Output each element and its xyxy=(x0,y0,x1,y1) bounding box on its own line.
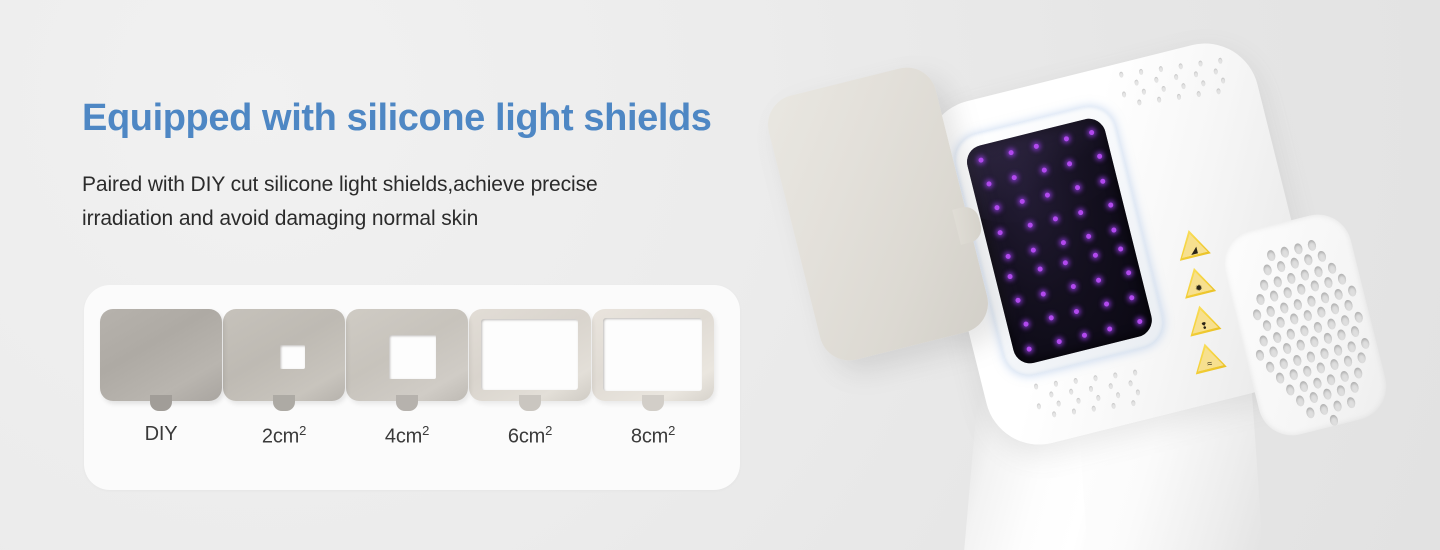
vent-hole xyxy=(1036,403,1041,409)
vent-hole xyxy=(1346,340,1356,353)
led-dot xyxy=(1070,284,1076,290)
vent-hole xyxy=(1329,414,1339,427)
vent-hole xyxy=(1177,94,1182,100)
led-dot xyxy=(1111,227,1117,233)
vent-hole xyxy=(1356,351,1366,364)
vent-hole xyxy=(1252,308,1262,321)
vent-hole xyxy=(1299,324,1309,337)
shield-tab xyxy=(273,395,295,411)
vent-hole xyxy=(1072,408,1077,414)
vent-hole xyxy=(1289,313,1299,326)
vent-hole xyxy=(1266,249,1276,262)
vent-hole xyxy=(1299,380,1309,393)
vent-hole xyxy=(1285,327,1295,340)
shield-label-2cm: 2cm2 xyxy=(223,423,345,449)
vent-hole xyxy=(1302,365,1312,378)
shield-label-4cm: 4cm2 xyxy=(346,423,468,449)
ipl-device-image: ◢ ✹ ❢ ≈ xyxy=(760,20,1440,550)
vent-hole xyxy=(1154,77,1159,83)
vent-hole xyxy=(1161,86,1166,92)
vent-hole xyxy=(1329,358,1339,371)
vent-hole xyxy=(1139,69,1144,75)
vent-hole xyxy=(1221,77,1226,83)
vent-hole xyxy=(1306,294,1316,307)
promo-banner: Equipped with silicone light shields Pai… xyxy=(0,0,1440,550)
led-dot xyxy=(1081,332,1087,338)
vent-hole xyxy=(1293,298,1303,311)
silicone-shield-2cm[interactable] xyxy=(223,309,345,401)
led-dot xyxy=(1027,222,1033,228)
vent-hole xyxy=(1279,245,1289,258)
vent-hole xyxy=(1136,389,1141,395)
vent-hole xyxy=(1122,91,1127,97)
vent-hole xyxy=(1119,71,1124,77)
vent-hole xyxy=(1295,395,1305,408)
vent-hole xyxy=(1255,349,1265,362)
shield-aperture xyxy=(389,335,436,379)
vent-hole xyxy=(1128,380,1133,386)
led-dot xyxy=(1086,233,1092,239)
vent-hole xyxy=(1218,58,1223,64)
vent-hole xyxy=(1313,321,1323,334)
vent-hole xyxy=(1141,88,1146,94)
led-dot xyxy=(997,230,1003,236)
vent-hole xyxy=(1196,91,1201,97)
shield-tab xyxy=(150,395,172,411)
warning-read-manual-icon: ❢ xyxy=(1182,300,1222,338)
led-dot xyxy=(1129,295,1135,301)
vent-hole xyxy=(1333,343,1343,356)
vent-hole xyxy=(1134,79,1139,85)
silicone-shield-6cm[interactable] xyxy=(469,309,591,401)
vent-hole xyxy=(1300,268,1310,281)
led-dot xyxy=(1030,247,1036,253)
vent-hole xyxy=(1272,331,1282,344)
vent-hole xyxy=(1194,71,1199,77)
vent-hole xyxy=(1275,372,1285,385)
vent-hole xyxy=(1034,383,1039,389)
vent-hole xyxy=(1255,293,1265,306)
shield-collection: DIY 2cm2 4cm2 6cm2 8cm2 xyxy=(84,285,740,490)
vent-hole xyxy=(1353,310,1363,323)
vent-hole xyxy=(1343,355,1353,368)
vent-hole xyxy=(1069,388,1074,394)
vent-hole xyxy=(1282,342,1292,355)
vent-hole xyxy=(1303,309,1313,322)
shield-tab xyxy=(642,395,664,411)
vent-hole xyxy=(1336,384,1346,397)
vent-hole xyxy=(1216,88,1221,94)
vent-hole xyxy=(1350,325,1360,338)
shield-label-6cm: 6cm2 xyxy=(469,423,591,449)
vent-hole xyxy=(1316,306,1326,319)
shield-label-text: 8cm xyxy=(631,426,668,448)
vent-hole xyxy=(1137,99,1142,105)
led-dot xyxy=(1015,297,1021,303)
vent-hole xyxy=(1108,383,1113,389)
page-title: Equipped with silicone light shields xyxy=(82,97,712,140)
led-dot xyxy=(1062,260,1068,266)
led-dot xyxy=(1108,202,1114,208)
vent-hole xyxy=(1054,381,1059,387)
vent-hole xyxy=(1310,280,1320,293)
shield-tab xyxy=(396,395,418,411)
vent-hole xyxy=(1337,273,1347,286)
silicone-shield-diy[interactable] xyxy=(100,309,222,401)
subheading-line-2: irradiation and avoid damaging normal sk… xyxy=(82,202,762,236)
vent-hole xyxy=(1279,301,1289,314)
vent-hole xyxy=(1346,396,1356,409)
shield-label-sup: 2 xyxy=(668,423,675,438)
vent-hole xyxy=(1111,403,1116,409)
vent-hole xyxy=(1089,386,1094,392)
vent-hole xyxy=(1322,388,1332,401)
vent-hole xyxy=(1113,372,1118,378)
vent-hole xyxy=(1312,376,1322,389)
vent-hole xyxy=(1293,242,1303,255)
led-dot xyxy=(1056,339,1062,345)
vent-hole xyxy=(1201,80,1206,86)
vent-hole xyxy=(1353,366,1363,379)
vent-hole xyxy=(1290,257,1300,270)
led-dot xyxy=(1052,216,1058,222)
vent-hole xyxy=(1275,316,1285,329)
led-dot xyxy=(1005,253,1011,259)
shield-aperture xyxy=(280,345,305,369)
vent-hole xyxy=(1296,339,1306,352)
vent-hole xyxy=(1333,288,1343,301)
led-dot xyxy=(1026,346,1032,352)
vent-hole xyxy=(1262,264,1272,277)
vent-hole xyxy=(1347,284,1357,297)
vent-hole xyxy=(1319,403,1329,416)
vent-hole xyxy=(1360,337,1370,350)
vent-hole xyxy=(1174,74,1179,80)
vent-hole xyxy=(1157,96,1162,102)
vent-hole xyxy=(1292,354,1302,367)
treatment-window-bezel xyxy=(950,101,1169,381)
vent-hole xyxy=(1309,391,1319,404)
vent-hole xyxy=(1056,400,1061,406)
vent-hole xyxy=(1323,276,1333,289)
led-dot xyxy=(1048,315,1054,321)
vent-hole xyxy=(1327,261,1337,274)
vent-dots-bottom-icon xyxy=(1034,369,1149,426)
vent-hole xyxy=(1343,299,1353,312)
vent-hole xyxy=(1286,272,1296,285)
shield-label-sup: 2 xyxy=(545,423,552,438)
led-dot xyxy=(1104,301,1110,307)
vent-hole xyxy=(1159,66,1164,72)
vent-hole xyxy=(1288,368,1298,381)
led-dot xyxy=(1040,291,1046,297)
vent-hole xyxy=(1133,369,1138,375)
led-dot xyxy=(1078,210,1084,216)
vent-hole xyxy=(1282,286,1292,299)
vent-hole xyxy=(1330,302,1340,315)
vent-hole xyxy=(1262,319,1272,332)
vent-hole xyxy=(1306,350,1316,363)
vent-hole xyxy=(1305,406,1315,419)
silicone-shield-4cm[interactable] xyxy=(346,309,468,401)
subheading-line-1: Paired with DIY cut silicone light shiel… xyxy=(82,168,762,202)
vent-hole xyxy=(1316,362,1326,375)
warning-hot-surface-icon: ≈ xyxy=(1188,338,1228,376)
led-dot xyxy=(1037,266,1043,272)
glass-reflection xyxy=(963,115,1135,235)
vent-hole xyxy=(1265,305,1275,318)
vent-hole xyxy=(1116,392,1121,398)
shield-tab xyxy=(519,395,541,411)
vent-hole xyxy=(1278,357,1288,370)
subheading: Paired with DIY cut silicone light shiel… xyxy=(82,168,762,236)
vent-hole xyxy=(1296,283,1306,296)
vent-hole xyxy=(1178,63,1183,69)
led-dot xyxy=(1118,246,1124,252)
vent-hole xyxy=(1073,378,1078,384)
vent-hole xyxy=(1096,395,1101,401)
vent-hole xyxy=(1340,314,1350,327)
vent-hole xyxy=(1336,329,1346,342)
shield-aperture xyxy=(481,319,578,390)
vent-hole xyxy=(1258,334,1268,347)
vent-hole xyxy=(1076,398,1081,404)
led-dot xyxy=(1126,270,1132,276)
vent-hole xyxy=(1268,346,1278,359)
vent-hole xyxy=(1317,250,1327,263)
led-dot xyxy=(1007,274,1013,280)
led-dot xyxy=(1073,308,1079,314)
led-dot xyxy=(1137,318,1143,324)
vent-hole xyxy=(1181,83,1186,89)
silicone-shield-8cm[interactable] xyxy=(592,309,714,401)
vent-hole xyxy=(1049,391,1054,397)
led-dot xyxy=(1060,240,1066,246)
vent-hole xyxy=(1326,317,1336,330)
treatment-window xyxy=(963,115,1155,367)
shield-label-sup: 2 xyxy=(299,423,306,438)
vent-hole xyxy=(1093,375,1098,381)
shield-label-text: DIY xyxy=(145,423,178,445)
vent-hole xyxy=(1319,347,1329,360)
led-dot xyxy=(1023,321,1029,327)
vent-hole xyxy=(1323,332,1333,345)
vent-hole xyxy=(1276,260,1286,273)
vent-dots-top-icon xyxy=(1119,57,1234,116)
shield-label-text: 4cm xyxy=(385,426,422,448)
vent-hole xyxy=(1349,381,1359,394)
vent-hole xyxy=(1320,291,1330,304)
vent-hole xyxy=(1326,373,1336,386)
vent-hole xyxy=(1339,370,1349,383)
shield-label-sup: 2 xyxy=(422,423,429,438)
vent-hole xyxy=(1213,68,1218,74)
warning-eye-protection-icon: ◢ xyxy=(1172,225,1212,263)
led-dot xyxy=(1096,277,1102,283)
vent-hole xyxy=(1259,278,1269,291)
vent-hole xyxy=(1303,253,1313,266)
vent-hole xyxy=(1272,275,1282,288)
vent-hole xyxy=(1309,335,1319,348)
shield-aperture xyxy=(603,318,702,391)
vent-hole xyxy=(1198,60,1203,66)
led-dot xyxy=(1092,252,1098,258)
vent-hole xyxy=(1307,239,1317,252)
vent-hole xyxy=(1332,399,1342,412)
vent-hole xyxy=(1091,406,1096,412)
vent-hole xyxy=(1285,383,1295,396)
shield-label-text: 2cm xyxy=(262,426,299,448)
shield-label-diy: DIY xyxy=(100,423,222,446)
vent-hole xyxy=(1052,411,1057,417)
shield-label-text: 6cm xyxy=(508,426,545,448)
led-dot xyxy=(1107,326,1113,332)
warning-radiation-icon: ✹ xyxy=(1177,263,1217,301)
vent-hole xyxy=(1269,290,1279,303)
vent-hole xyxy=(1313,265,1323,278)
shield-label-8cm: 8cm2 xyxy=(592,423,714,449)
vent-hole xyxy=(1131,400,1136,406)
vent-hole xyxy=(1265,360,1275,373)
